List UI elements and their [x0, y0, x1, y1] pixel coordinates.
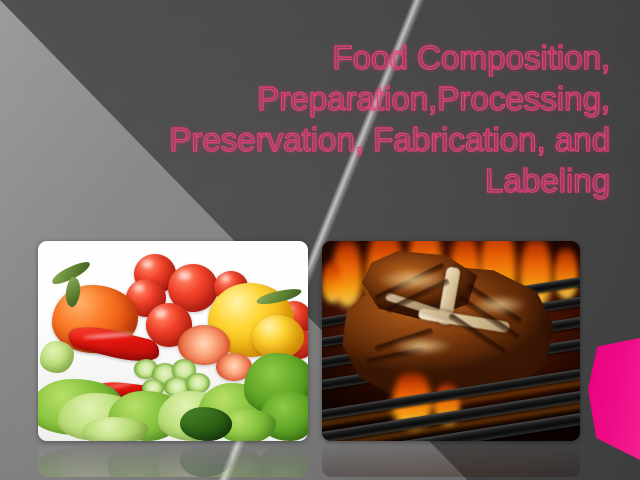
- vegetables-scene: [38, 241, 308, 441]
- vegetables-photo-reflection: [38, 443, 308, 477]
- vegetables-photo-block: [38, 241, 308, 477]
- grilled-steak-photo[interactable]: [322, 241, 580, 441]
- slide-title: Food Composition, Preparation,Processing…: [42, 38, 610, 202]
- grilled-steak-photo-reflection: [322, 443, 580, 477]
- grilled-steak-photo-block: [322, 241, 580, 477]
- presentation-slide: Food Composition, Preparation,Processing…: [0, 0, 640, 480]
- vegetables-photo[interactable]: [38, 241, 308, 441]
- grilled-steak-scene: [322, 241, 580, 441]
